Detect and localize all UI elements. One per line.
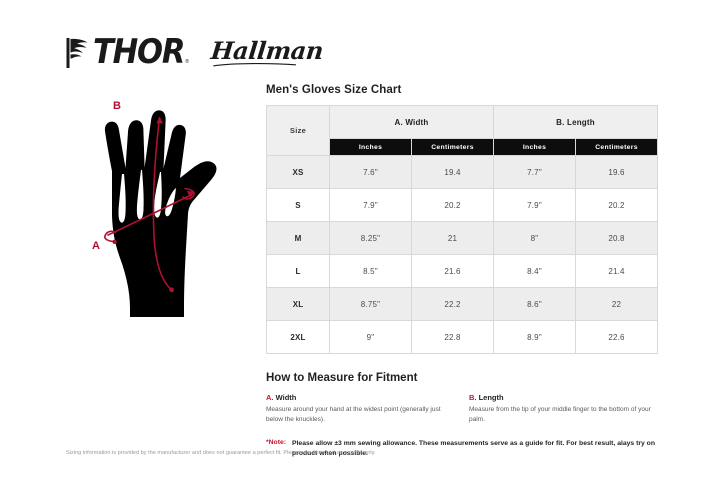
row-length-centimeters: 20.8 (576, 222, 658, 255)
row-size: L (267, 255, 330, 288)
measure-length-letter: B. (469, 393, 477, 402)
measure-width-heading: A. Width (266, 393, 455, 402)
row-width-centimeters: 21 (412, 222, 494, 255)
column-header-width-group: A. Width (330, 106, 494, 139)
hallman-logo: Hallman (211, 39, 323, 67)
measure-width-letter: A. (266, 393, 274, 402)
measure-width-text: Measure around your hand at the widest p… (266, 405, 455, 425)
table-row: 2XL9"22.88.9"22.6 (267, 321, 658, 354)
row-length-centimeters: 22.6 (576, 321, 658, 354)
row-length-inches: 8.4" (494, 255, 576, 288)
row-width-inches: 7.6" (330, 156, 412, 189)
table-row: M8.25"218"20.8 (267, 222, 658, 255)
thor-helmet-bolt-icon (64, 37, 90, 69)
size-chart-table: Size A. Width B. Length Inches Centimete… (266, 105, 658, 354)
how-to-measure-columns: A. Width Measure around your hand at the… (266, 393, 658, 425)
row-width-centimeters: 19.4 (412, 156, 494, 189)
row-width-inches: 8.75" (330, 288, 412, 321)
row-size: 2XL (267, 321, 330, 354)
diagram-label-a: A (92, 240, 100, 252)
measure-width-label: Width (276, 393, 297, 402)
table-header-row-groups: Size A. Width B. Length (267, 106, 658, 139)
table-body: XS7.6"19.47.7"19.6S7.9"20.27.9"20.2M8.25… (267, 156, 658, 354)
row-size: XS (267, 156, 330, 189)
row-width-inches: 7.9" (330, 189, 412, 222)
row-length-inches: 8" (494, 222, 576, 255)
column-header-length-centimeters: Centimeters (576, 139, 658, 156)
footer-disclaimer: Sizing information is provided by the ma… (66, 449, 406, 459)
row-length-centimeters: 21.4 (576, 255, 658, 288)
column-header-width-inches: Inches (330, 139, 412, 156)
how-to-measure-section: How to Measure for Fitment A. Width Meas… (266, 372, 658, 425)
table-row: XL8.75"22.28.6"22 (267, 288, 658, 321)
measure-length-text: Measure from the tip of your middle fing… (469, 405, 658, 425)
measure-column-length: B. Length Measure from the tip of your m… (469, 393, 658, 425)
table-head: Size A. Width B. Length Inches Centimete… (267, 106, 658, 156)
table-row: L8.5"21.68.4"21.4 (267, 255, 658, 288)
column-header-length-group: B. Length (494, 106, 658, 139)
row-length-inches: 8.6" (494, 288, 576, 321)
measure-length-label: Length (479, 393, 504, 402)
table-row: S7.9"20.27.9"20.2 (267, 189, 658, 222)
row-width-inches: 8.25" (330, 222, 412, 255)
measure-length-heading: B. Length (469, 393, 658, 402)
column-header-size: Size (267, 106, 330, 156)
hallman-wordmark: Hallman (210, 39, 325, 63)
row-length-centimeters: 19.6 (576, 156, 658, 189)
table-row: XS7.6"19.47.7"19.6 (267, 156, 658, 189)
row-length-inches: 7.7" (494, 156, 576, 189)
diagram-label-b: B (113, 100, 121, 112)
thor-wordmark: THOR (93, 36, 184, 70)
row-size: XL (267, 288, 330, 321)
length-end-dot (169, 287, 174, 292)
row-length-inches: 7.9" (494, 189, 576, 222)
how-to-measure-title: How to Measure for Fitment (266, 372, 658, 384)
column-header-width-centimeters: Centimeters (412, 139, 494, 156)
row-width-centimeters: 21.6 (412, 255, 494, 288)
column-header-length-inches: Inches (494, 139, 576, 156)
row-length-centimeters: 22 (576, 288, 658, 321)
brand-header: THOR ® Hallman (64, 33, 323, 73)
row-size: M (267, 222, 330, 255)
size-chart-content: Men's Gloves Size Chart Size A. Width B.… (266, 84, 658, 460)
thor-logo: THOR ® (64, 37, 189, 69)
row-width-centimeters: 20.2 (412, 189, 494, 222)
hand-silhouette-icon: B A (72, 96, 262, 318)
hand-measurement-diagram: B A (72, 96, 262, 318)
row-length-inches: 8.9" (494, 321, 576, 354)
note-label: *Note: (266, 439, 286, 446)
measure-column-width: A. Width Measure around your hand at the… (266, 393, 455, 425)
thor-trademark: ® (185, 59, 189, 65)
row-width-centimeters: 22.8 (412, 321, 494, 354)
row-width-centimeters: 22.2 (412, 288, 494, 321)
row-width-inches: 8.5" (330, 255, 412, 288)
width-end-dot (112, 240, 116, 244)
row-size: S (267, 189, 330, 222)
page-title: Men's Gloves Size Chart (266, 84, 658, 96)
row-width-inches: 9" (330, 321, 412, 354)
row-length-centimeters: 20.2 (576, 189, 658, 222)
